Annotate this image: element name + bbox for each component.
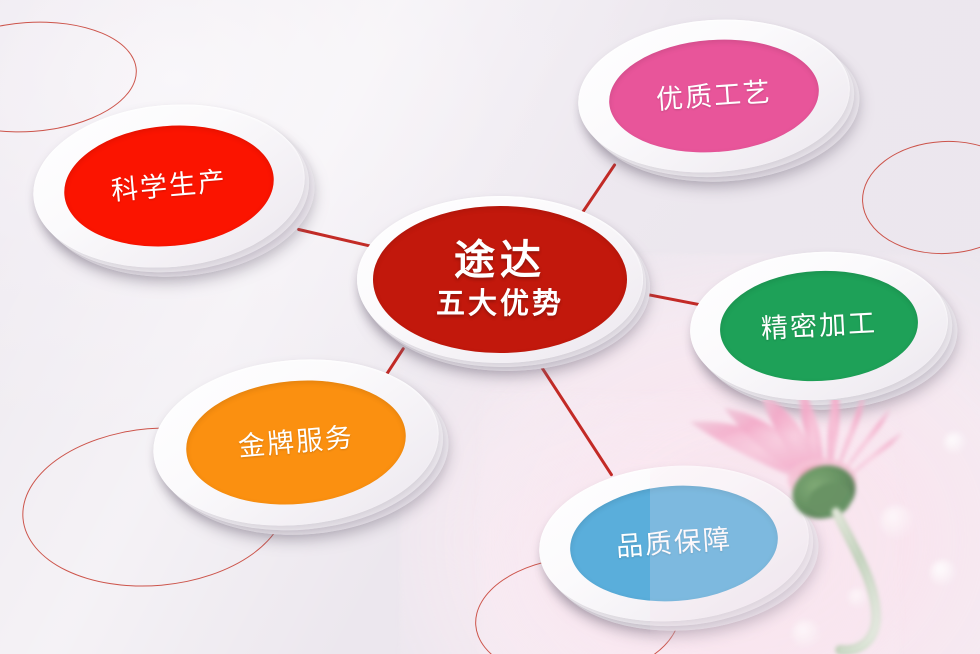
infographic-canvas: 科学生产 优质工艺 精密加工 品质保障 金牌服务 xyxy=(0,0,980,654)
node-precision-machining[interactable]: 精密加工 xyxy=(686,245,951,406)
node-label: 精密加工 xyxy=(760,308,877,344)
node-scientific-production[interactable]: 科学生产 xyxy=(26,93,311,278)
node-center-brand[interactable]: 途达 五大优势 xyxy=(357,196,643,363)
center-subtitle: 五大优势 xyxy=(436,288,564,320)
node-label: 金牌服务 xyxy=(237,422,355,462)
node-disc: 途达 五大优势 xyxy=(373,206,628,353)
node-label: 科学生产 xyxy=(110,166,228,206)
node-quality-craft[interactable]: 优质工艺 xyxy=(573,11,855,182)
node-label: 优质工艺 xyxy=(655,77,773,115)
node-label: 品质保障 xyxy=(615,524,733,562)
center-title: 途达 xyxy=(454,238,546,284)
node-gold-service[interactable]: 金牌服务 xyxy=(146,348,445,537)
node-quality-assurance[interactable]: 品质保障 xyxy=(534,457,814,630)
